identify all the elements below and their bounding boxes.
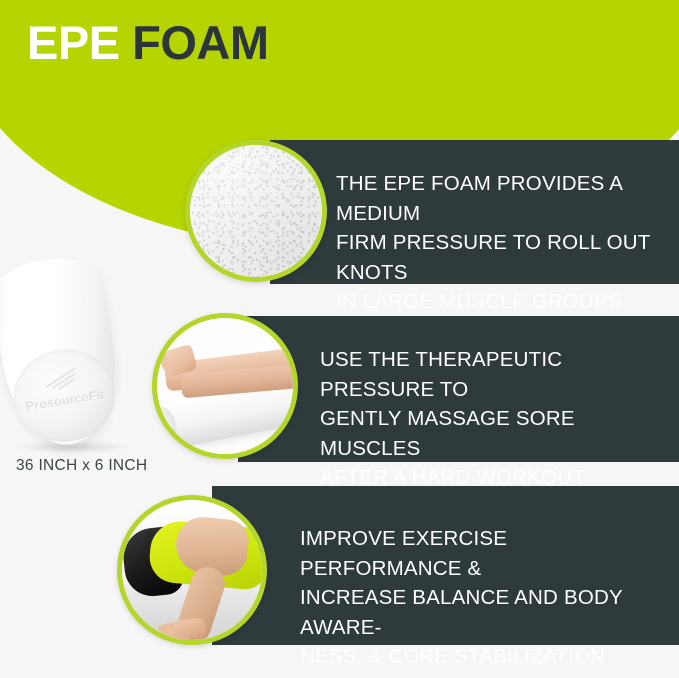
feature-text-3: IMPROVE EXERCISE PERFORMANCE & INCREASE … [300,524,670,672]
page-title: EPE FOAM [27,19,268,66]
product-feature-infographic: EPE FOAM ProsourceFit 36 INCH x 6 INCH T… [0,0,679,678]
feature-image-2-legs-on-roller [152,313,298,459]
title-word-epe: EPE [27,16,120,69]
title-word-foam: FOAM [132,16,268,69]
foam-roller-body: ProsourceFit [0,252,127,453]
product-image: ProsourceFit [6,258,174,458]
legs-on-roller-image [157,318,293,454]
foam-texture-closeup-image [190,145,322,277]
roller-cap-shape [157,405,180,448]
foam-roller-end-cap: ProsourceFit [7,342,122,449]
brand-swoosh-icon [42,366,87,392]
feature-text-1: THE EPE FOAM PROVIDES A MEDIUM FIRM PRES… [336,169,672,317]
brand-emboss-label: ProsourceFit [14,386,117,416]
feature-image-3-core-exercise [117,495,267,645]
core-exercise-image [122,500,262,640]
feature-image-1-foam-texture [185,140,327,282]
product-size-caption: 36 INCH x 6 INCH [16,457,147,475]
feature-text-2: USE THE THERAPEUTIC PRESSURE TO GENTLY M… [320,345,660,493]
